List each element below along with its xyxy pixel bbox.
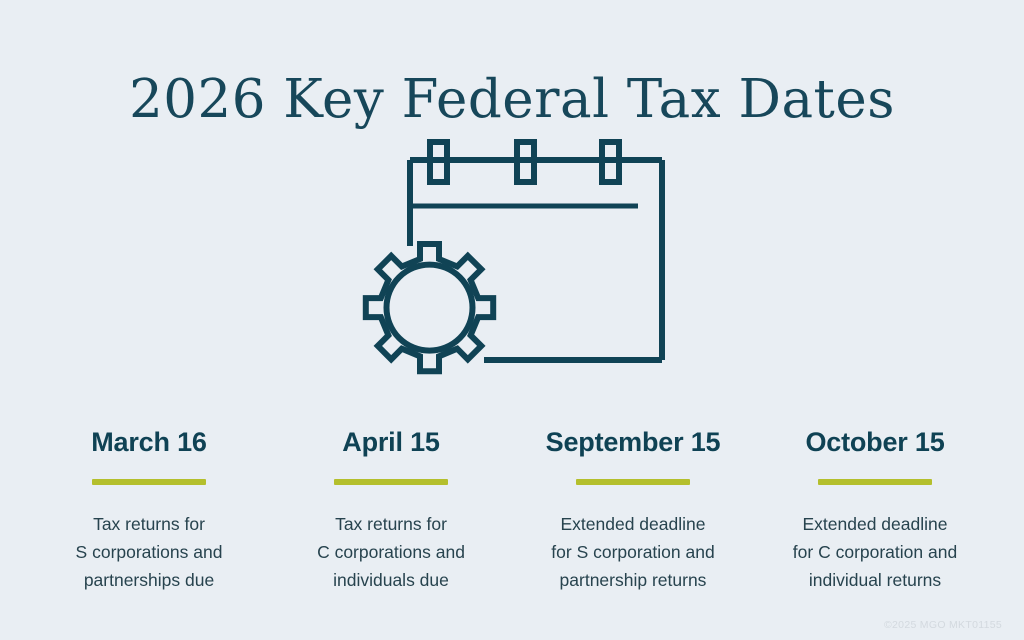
accent-rule: [334, 479, 448, 485]
description-line: for S corporation and: [551, 538, 714, 566]
description-line: Extended deadline: [793, 510, 957, 538]
accent-rule: [818, 479, 932, 485]
description-line: C corporations and: [317, 538, 465, 566]
date-description: Tax returns for C corporations and indiv…: [317, 510, 465, 595]
description-line: individual returns: [793, 566, 957, 594]
description-line: Tax returns for: [76, 510, 223, 538]
description-line: Extended deadline: [551, 510, 714, 538]
date-description: Extended deadline for C corporation and …: [793, 510, 957, 595]
date-description: Extended deadline for S corporation and …: [551, 510, 714, 595]
date-label: September 15: [546, 428, 721, 458]
key-dates-row: March 16 Tax returns for S corporations …: [28, 428, 996, 595]
description-line: individuals due: [317, 566, 465, 594]
date-column-october: October 15 Extended deadline for C corpo…: [754, 428, 996, 595]
date-description: Tax returns for S corporations and partn…: [76, 510, 223, 595]
date-label: April 15: [342, 428, 439, 458]
date-column-september: September 15 Extended deadline for S cor…: [512, 428, 754, 595]
description-line: Tax returns for: [317, 510, 465, 538]
description-line: partnership returns: [551, 566, 714, 594]
description-line: partnerships due: [76, 566, 223, 594]
accent-rule: [92, 479, 206, 485]
accent-rule: [576, 479, 690, 485]
infographic-canvas: 2026 Key Federal Tax Dates March 16: [0, 0, 1024, 640]
date-label: October 15: [805, 428, 944, 458]
date-column-march: March 16 Tax returns for S corporations …: [28, 428, 270, 595]
page-title: 2026 Key Federal Tax Dates: [0, 70, 1024, 129]
copyright-credit: ©2025 MGO MKT01155: [884, 619, 1002, 631]
calendar-gear-icon: [332, 128, 692, 400]
description-line: for C corporation and: [793, 538, 957, 566]
date-label: March 16: [91, 428, 206, 458]
calendar-gear-illustration: [332, 128, 692, 400]
description-line: S corporations and: [76, 538, 223, 566]
date-column-april: April 15 Tax returns for C corporations …: [270, 428, 512, 595]
